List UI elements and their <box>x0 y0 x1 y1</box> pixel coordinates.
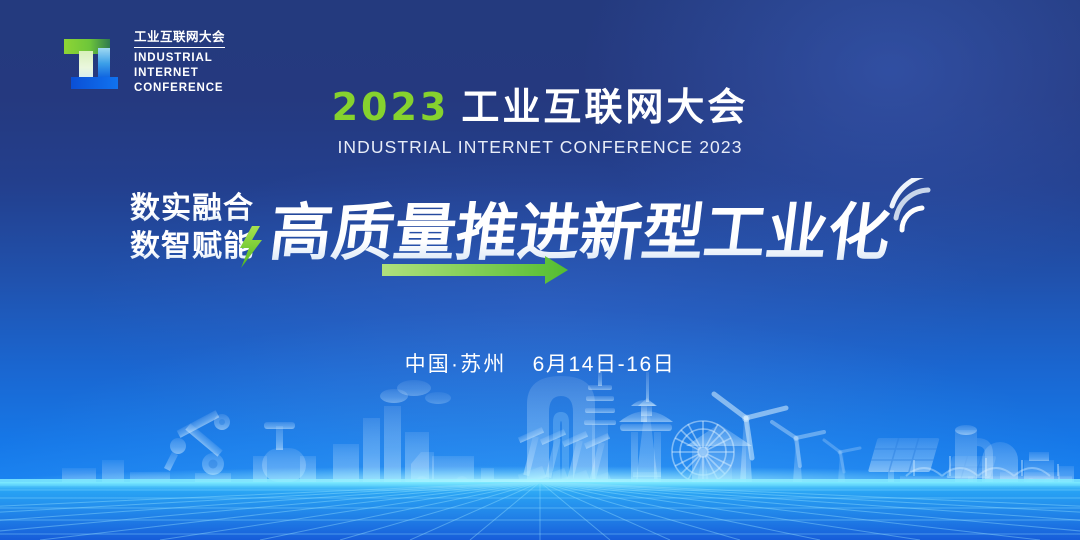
slogan-line-2: 数智赋能 <box>130 229 254 264</box>
conference-banner: 工业互联网大会 INDUSTRIAL INTERNET CONFERENCE 2… <box>0 0 1080 540</box>
title-zone: 2023工业互联网大会 INDUSTRIAL INTERNET CONFEREN… <box>0 88 1080 158</box>
conference-logo-mark <box>58 30 124 96</box>
logo-en-line-2: INTERNET <box>134 66 225 81</box>
headline-slogan: 数实融合 数智赋能 高质量推进新型工业化 <box>0 178 1080 288</box>
title-chinese: 工业互联网大会 <box>461 87 748 129</box>
logo-en-line-1: INDUSTRIAL <box>134 51 225 66</box>
slogan-line-1: 数实融合 <box>130 191 254 226</box>
logo-text-block: 工业互联网大会 INDUSTRIAL INTERNET CONFERENCE <box>134 30 225 95</box>
skyline-graphic <box>0 360 1080 540</box>
city-skyline <box>0 360 1080 540</box>
logo-chinese-name: 工业互联网大会 <box>134 30 225 48</box>
page-title: 2023工业互联网大会 <box>0 88 1080 127</box>
wifi-signal-icon <box>892 178 934 230</box>
title-english-subtitle: INDUSTRIAL INTERNET CONFERENCE 2023 <box>0 137 1080 158</box>
headline-main-text: 高质量推进新型工业化 <box>266 196 895 269</box>
logo-block: 工业互联网大会 INDUSTRIAL INTERNET CONFERENCE <box>58 30 225 96</box>
headline-graphic: 数实融合 数智赋能 高质量推进新型工业化 <box>0 178 1080 288</box>
title-year: 2023 <box>332 85 450 129</box>
